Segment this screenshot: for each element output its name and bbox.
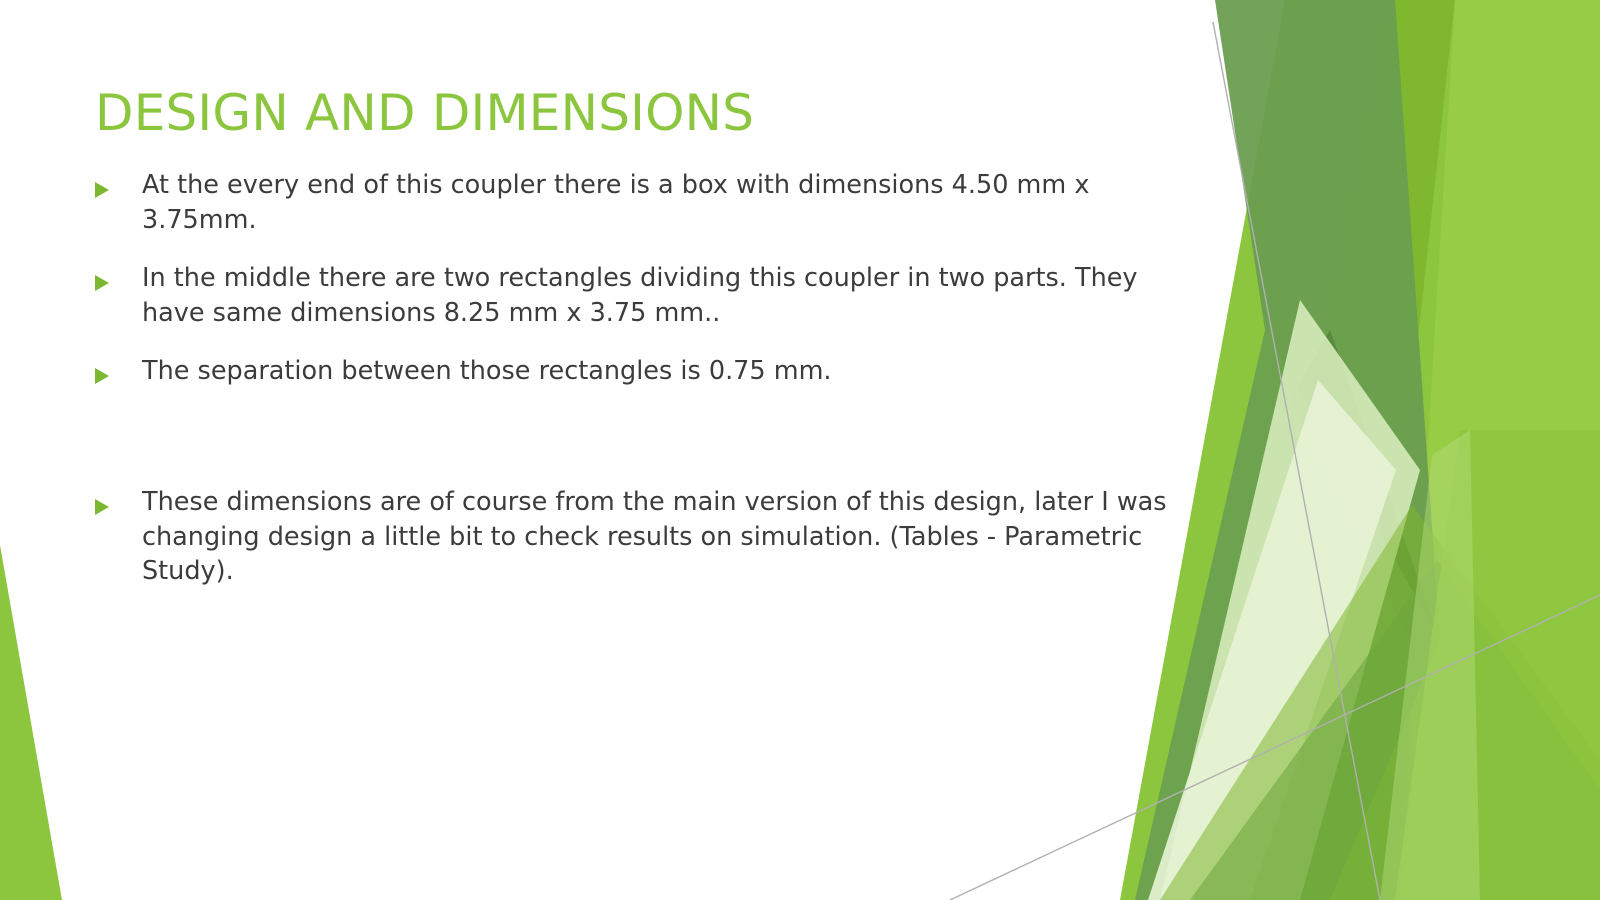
- bullet-text: The separation between those rectangles …: [142, 354, 1207, 389]
- bullet-item: At the every end of this coupler there i…: [92, 168, 1207, 238]
- dark-olive-panel: [1215, 0, 1440, 640]
- bright-accent-bottom: [1395, 430, 1600, 900]
- deep-green-overlap: [1290, 330, 1440, 660]
- bullet-text: These dimensions are of course from the …: [142, 485, 1207, 590]
- bullet-item: These dimensions are of course from the …: [92, 485, 1207, 590]
- triangle-right-bullet-icon: [92, 168, 142, 200]
- bullet-item: In the middle there are two rectangles d…: [92, 261, 1207, 331]
- slide-title: DESIGN AND DIMENSIONS: [95, 86, 1175, 141]
- slide-body-content: At the every end of this coupler there i…: [92, 168, 1207, 612]
- right-light-band: [1400, 0, 1600, 900]
- presentation-slide: DESIGN AND DIMENSIONS At the every end o…: [0, 0, 1600, 900]
- triangle-right-bullet-icon: [92, 261, 142, 293]
- mid-green-sweep: [1160, 505, 1600, 900]
- triangle-right-bullet-icon: [92, 485, 142, 517]
- triangle-right-bullet-icon: [92, 354, 142, 386]
- bullet-text: At the every end of this coupler there i…: [142, 168, 1207, 238]
- lower-dark-diagonal: [1190, 560, 1600, 900]
- bullet-text: In the middle there are two rectangles d…: [142, 261, 1207, 331]
- bottom-left-wedge: [0, 545, 62, 900]
- bullet-item: The separation between those rectangles …: [92, 354, 1207, 389]
- thin-diagonal-line-shallow: [950, 595, 1600, 900]
- light-sliver: [1380, 430, 1480, 900]
- mid-bright-band: [1330, 0, 1455, 430]
- thin-diagonal-line-vertical: [1213, 22, 1380, 900]
